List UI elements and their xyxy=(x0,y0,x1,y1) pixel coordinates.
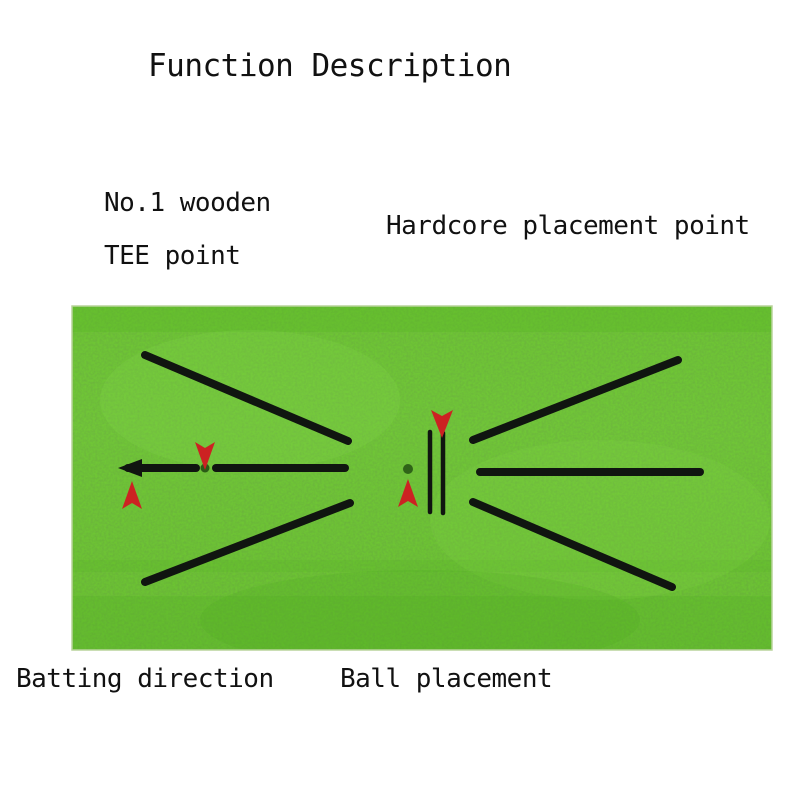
diagram-page: Function Description No.1 wooden TEE poi… xyxy=(0,0,800,800)
ball-placement-dot xyxy=(403,464,413,474)
golf-mat-diagram xyxy=(0,0,800,800)
